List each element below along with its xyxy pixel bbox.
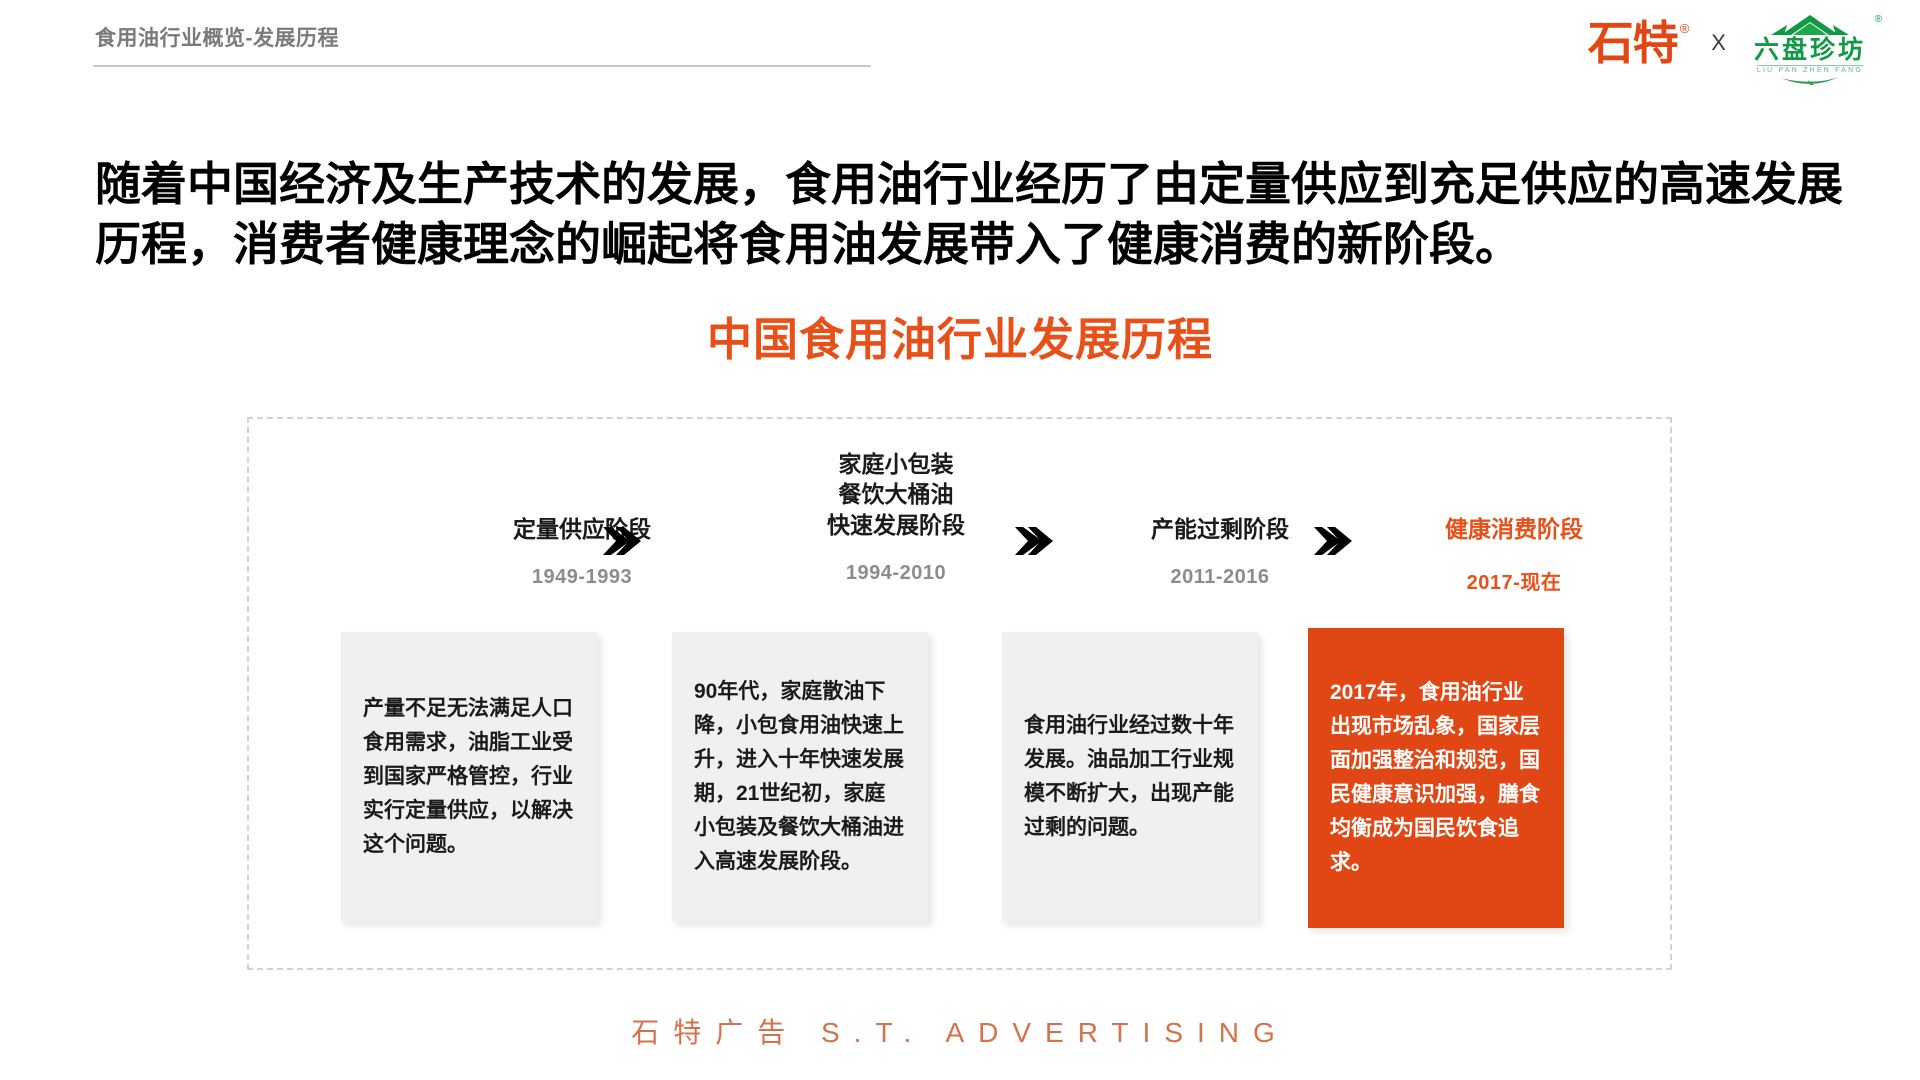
stage-label: 产能过剩阶段 [1095, 514, 1345, 544]
timeline-stage-header: 健康消费阶段 2017-现在 [1389, 514, 1639, 595]
stage-label: 健康消费阶段 [1389, 514, 1639, 544]
slide-headline: 随着中国经济及生产技术的发展，食用油行业经历了由定量供应到充足供应的高速发展历程… [95, 155, 1845, 275]
timeline-stage-header: 产能过剩阶段 2011-2016 [1095, 514, 1345, 589]
lockup-connector: X [1707, 30, 1730, 56]
chevron-right-icon [1310, 524, 1354, 558]
stage-card-text: 产量不足无法满足人口食用需求，油脂工业受到国家严格管控，行业实行定量供应，以解决… [363, 692, 575, 862]
stage-label: 家庭小包装 餐饮大桶油 快速发展阶段 [771, 449, 1021, 540]
timeline-stage-card: 食用油行业经过数十年发展。油品加工行业规模不断扩大，出现产能过剩的问题。 [1002, 632, 1258, 922]
stage-card-text: 食用油行业经过数十年发展。油品加工行业规模不断扩大，出现产能过剩的问题。 [1024, 709, 1236, 845]
partner-brand-logo: 六盘珍坊 LIU PAN ZHEN FANG ® [1748, 12, 1872, 74]
registered-trademark-icon: ® [1875, 14, 1882, 25]
partner-brand-wordmark: 六盘珍坊 [1754, 37, 1866, 63]
logo-lockup: 石特 ® X 六盘珍坊 LIU PAN ZHEN FANG ® [1588, 8, 1872, 78]
section-title: 中国食用油行业发展历程 [0, 303, 1920, 368]
stage-years: 1994-2010 [771, 562, 1021, 585]
timeline-stage-header: 定量供应阶段 1949-1993 [457, 514, 707, 589]
chevron-right-icon [1011, 524, 1055, 558]
timeline-stage-card: 产量不足无法满足人口食用需求，油脂工业受到国家严格管控，行业实行定量供应，以解决… [341, 632, 597, 922]
footer-brandline: 石特广告 S.T. ADVERTISING [0, 1011, 1920, 1051]
mountain-icon [1767, 14, 1853, 36]
stage-card-text: 90年代，家庭散油下降，小包食用油快速上升，进入十年快速发展期，21世纪初，家庭… [694, 675, 906, 879]
timeline-stage-row: 定量供应阶段 1949-1993 家庭小包装 餐饮大桶油 快速发展阶段 1994… [247, 430, 1672, 610]
leaf-swoosh-icon [1780, 74, 1840, 86]
stage-card-text: 2017年，食用油行业出现市场乱象，国家层面加强整治和规范，国民健康意识加强，膳… [1330, 676, 1542, 880]
page-title: 食用油行业概览-发展历程 [95, 22, 339, 52]
header-divider [93, 65, 871, 67]
stage-years: 2011-2016 [1095, 566, 1345, 589]
chevron-right-icon [599, 524, 643, 558]
primary-brand-logo: 石特 ® [1588, 20, 1690, 66]
stage-years: 2017-现在 [1389, 566, 1639, 595]
timeline-stage-card: 90年代，家庭散油下降，小包食用油快速上升，进入十年快速发展期，21世纪初，家庭… [672, 632, 928, 922]
primary-brand-wordmark: 石特 [1588, 20, 1678, 66]
stage-label: 定量供应阶段 [457, 514, 707, 544]
stage-years: 1949-1993 [457, 566, 707, 589]
timeline-stage-card: 2017年，食用油行业出现市场乱象，国家层面加强整治和规范，国民健康意识加强，膳… [1308, 628, 1564, 928]
registered-trademark-icon: ® [1680, 22, 1690, 35]
partner-brand-pinyin: LIU PAN ZHEN FANG [1757, 65, 1863, 74]
timeline-stage-header: 家庭小包装 餐饮大桶油 快速发展阶段 1994-2010 [771, 449, 1021, 585]
